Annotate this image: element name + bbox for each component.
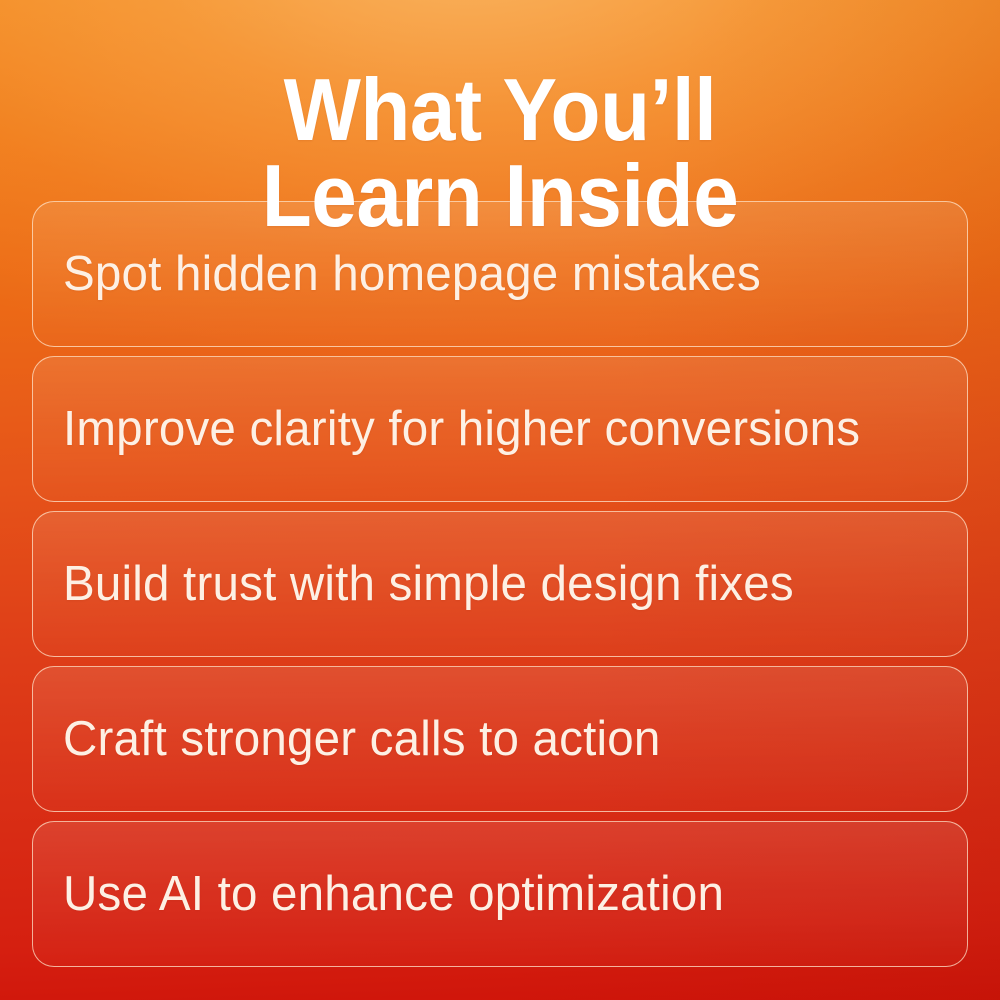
- poster-canvas: What You’ll Learn Inside Spot hidden hom…: [0, 0, 1000, 1000]
- page-title: What You’ll Learn Inside: [35, 67, 965, 239]
- benefit-card-4[interactable]: Craft stronger calls to action: [32, 666, 968, 812]
- benefit-card-label: Build trust with simple design fixes: [63, 556, 794, 612]
- benefit-card-list: Spot hidden homepage mistakes Improve cl…: [32, 201, 968, 967]
- benefit-card-label: Use AI to enhance optimization: [63, 866, 724, 922]
- benefit-card-label: Improve clarity for higher conversions: [63, 401, 860, 457]
- benefit-card-3[interactable]: Build trust with simple design fixes: [32, 511, 968, 657]
- benefit-card-label: Spot hidden homepage mistakes: [63, 246, 761, 302]
- benefit-card-5[interactable]: Use AI to enhance optimization: [32, 821, 968, 967]
- benefit-card-2[interactable]: Improve clarity for higher conversions: [32, 356, 968, 502]
- benefit-card-label: Craft stronger calls to action: [63, 711, 661, 767]
